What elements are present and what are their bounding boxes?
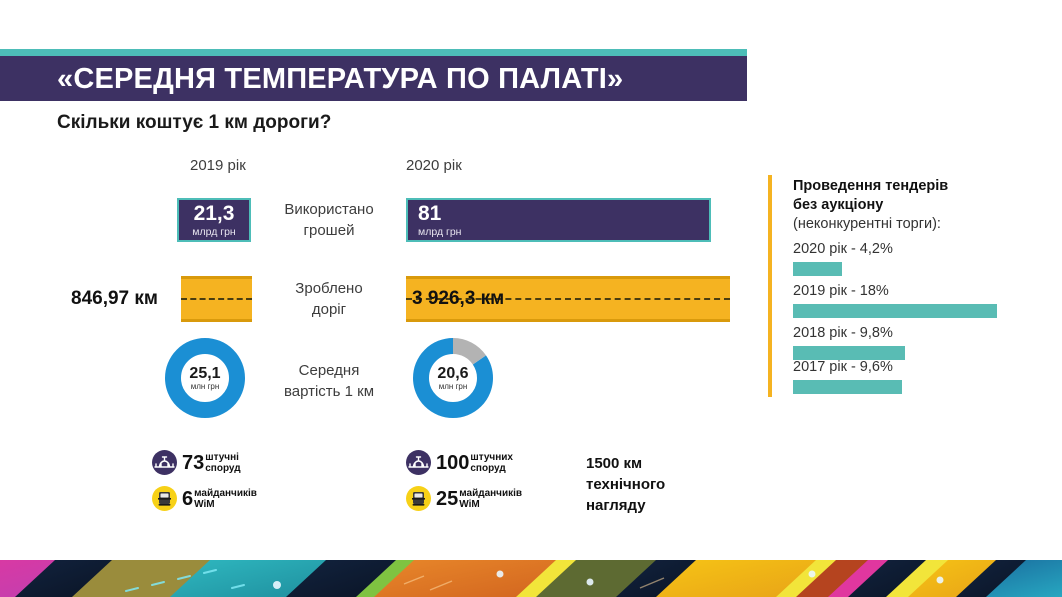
page-subtitle: Скільки коштує 1 км дороги? bbox=[57, 112, 331, 134]
stat-caption: штучних споруд bbox=[470, 452, 513, 474]
stat-caption-line1: майданчиків bbox=[459, 488, 522, 499]
page-title: «СЕРЕДНЯ ТЕМПЕРАТУРА ПО ПАЛАТІ» bbox=[57, 60, 747, 98]
stat-caption: штучні споруд bbox=[205, 452, 240, 474]
stat-caption-line2: WiM bbox=[194, 499, 214, 510]
tender-label: 2017 рік - 9,6% bbox=[793, 358, 1043, 377]
stat-number: 100 bbox=[436, 453, 469, 473]
slide-canvas: «СЕРЕДНЯ ТЕМПЕРАТУРА ПО ПАЛАТІ» Скільки … bbox=[0, 0, 1062, 597]
truck-scale-icon bbox=[406, 486, 431, 511]
stat-caption: майданчиків WiM bbox=[194, 488, 257, 510]
tender-panel-subheading: (неконкурентні торги): bbox=[793, 216, 1043, 232]
stat-caption-line2: WiM bbox=[459, 499, 479, 510]
supervision-note: 1500 км технічного нагляду bbox=[586, 453, 665, 516]
row-label-cost: Середня вартість 1 км bbox=[264, 360, 394, 402]
stat-caption-line2: споруд bbox=[470, 463, 505, 474]
money-value-2020: 81 bbox=[418, 202, 709, 226]
tender-bar bbox=[793, 380, 902, 394]
money-unit-2020: млрд грн bbox=[418, 226, 709, 239]
stat-bridges-2019: 73 штучні споруд bbox=[152, 450, 241, 475]
tender-label: 2018 рік - 9,8% bbox=[793, 324, 1043, 343]
stat-caption-line1: майданчиків bbox=[194, 488, 257, 499]
tender-bar bbox=[793, 262, 842, 276]
title-accent-strip bbox=[0, 49, 747, 56]
stat-caption: майданчиків WiM bbox=[459, 488, 522, 510]
tender-label: 2020 рік - 4,2% bbox=[793, 240, 1043, 259]
road-bar-2019 bbox=[181, 276, 252, 322]
money-bar-2020: 81 млрд грн bbox=[406, 198, 711, 242]
column-header-2020: 2020 рік bbox=[406, 157, 462, 174]
stat-wim-2019: 6 майданчиків WiM bbox=[152, 486, 257, 511]
tender-bar bbox=[793, 304, 997, 318]
tender-item: 2018 рік - 9,8% bbox=[793, 324, 1043, 360]
tender-item: 2020 рік - 4,2% bbox=[793, 240, 1043, 276]
stat-bridges-2020: 100 штучних споруд bbox=[406, 450, 513, 475]
cost-donut-2019: 25,1 млн грн bbox=[165, 338, 245, 418]
stat-number: 25 bbox=[436, 489, 458, 509]
money-bar-2019: 21,3 млрд грн bbox=[177, 198, 251, 242]
tender-item: 2017 рік - 9,6% bbox=[793, 358, 1043, 394]
bridge-icon bbox=[406, 450, 431, 475]
decorative-footer bbox=[0, 560, 1062, 597]
road-value-2020: 3 926,3 км bbox=[412, 288, 504, 310]
money-value-2019: 21,3 bbox=[179, 202, 249, 226]
stat-caption-line1: штучних bbox=[470, 452, 513, 463]
bridge-icon bbox=[152, 450, 177, 475]
stat-number: 6 bbox=[182, 489, 193, 509]
stat-caption-line1: штучні bbox=[205, 452, 239, 463]
stat-caption-line2: споруд bbox=[205, 463, 240, 474]
cost-donut-2020: 20,6 млн грн bbox=[413, 338, 493, 418]
stat-wim-2020: 25 майданчиків WiM bbox=[406, 486, 522, 511]
tender-item: 2019 рік - 18% bbox=[793, 282, 1043, 318]
row-label-money: Використано грошей bbox=[264, 199, 394, 241]
column-header-2019: 2019 рік bbox=[190, 157, 246, 174]
money-unit-2019: млрд грн bbox=[179, 226, 249, 239]
tender-label: 2019 рік - 18% bbox=[793, 282, 1043, 301]
stat-number: 73 bbox=[182, 453, 204, 473]
tender-panel-rule bbox=[768, 175, 772, 397]
tender-panel-heading: Проведення тендерів без аукціону bbox=[793, 177, 1043, 215]
truck-scale-icon bbox=[152, 486, 177, 511]
row-label-roads: Зроблено доріг bbox=[264, 278, 394, 320]
road-value-2019: 846,97 км bbox=[71, 288, 158, 310]
